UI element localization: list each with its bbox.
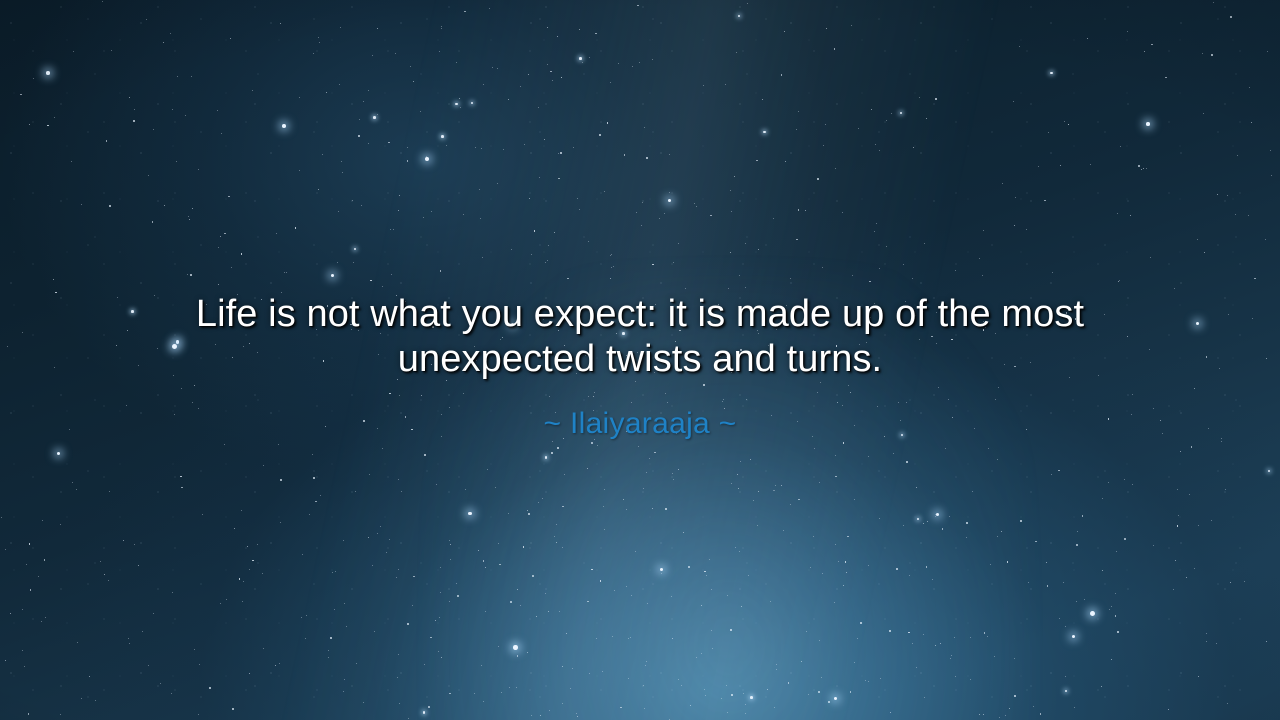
quote-wallpaper: Life is not what you expect: it is made … bbox=[0, 0, 1280, 720]
quote-text: Life is not what you expect: it is made … bbox=[140, 292, 1140, 382]
quote-author: ~ Ilaiyaraaja ~ bbox=[544, 407, 737, 441]
